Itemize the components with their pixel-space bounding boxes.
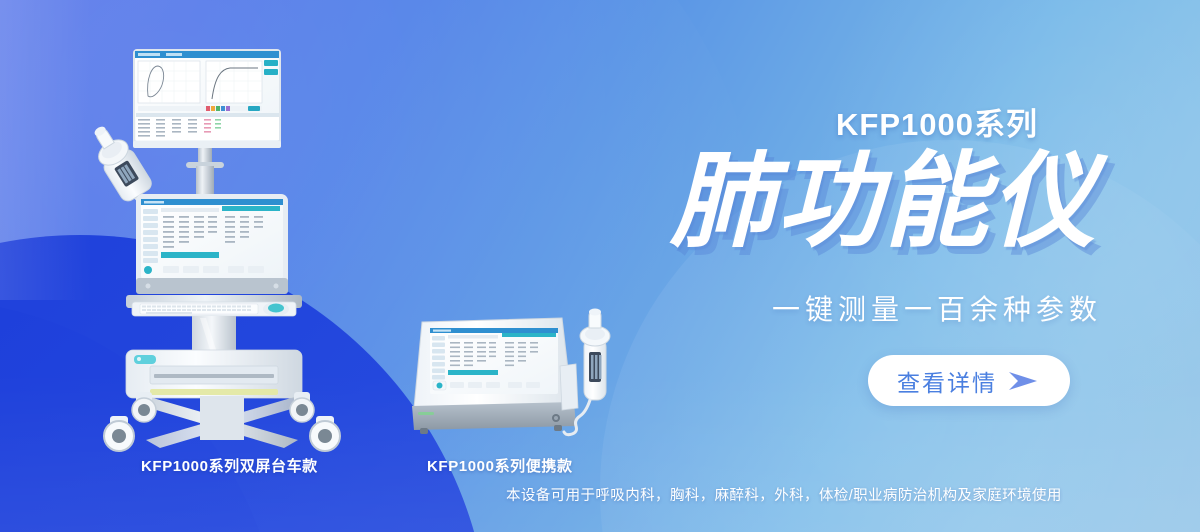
decorative-left-sheen [0, 0, 92, 300]
banner-headline: 肺功能仪 [670, 146, 1098, 258]
usage-disclaimer: 本设备可用于呼吸内科，胸科，麻醉科，外科，体检/职业病防治机构及家庭环境使用 [506, 484, 1062, 505]
cart-console-screen [136, 194, 288, 294]
product-banner: KFP1000系列双屏台车款 KFP1000系列便携款 KFP1000系列 肺功… [0, 0, 1200, 532]
spirometer-cart-icon [88, 44, 358, 454]
cart-printer-module [126, 350, 302, 398]
cart-keyboard-tray [126, 295, 302, 316]
product-caption-portable: KFP1000系列便携款 [427, 455, 573, 476]
view-details-button[interactable]: 查看详情 [868, 355, 1070, 406]
cart-top-monitor [133, 49, 281, 168]
banner-subheadline: 一键测量一百余种参数 [772, 288, 1102, 328]
view-details-label: 查看详情 [897, 364, 997, 398]
product-caption-cart: KFP1000系列双屏台车款 [141, 455, 318, 476]
arrow-right-icon [1007, 370, 1041, 392]
cart-base-wheels [104, 392, 340, 451]
banner-eyebrow: KFP1000系列 [836, 99, 1038, 144]
spirometer-portable-icon [404, 308, 634, 443]
